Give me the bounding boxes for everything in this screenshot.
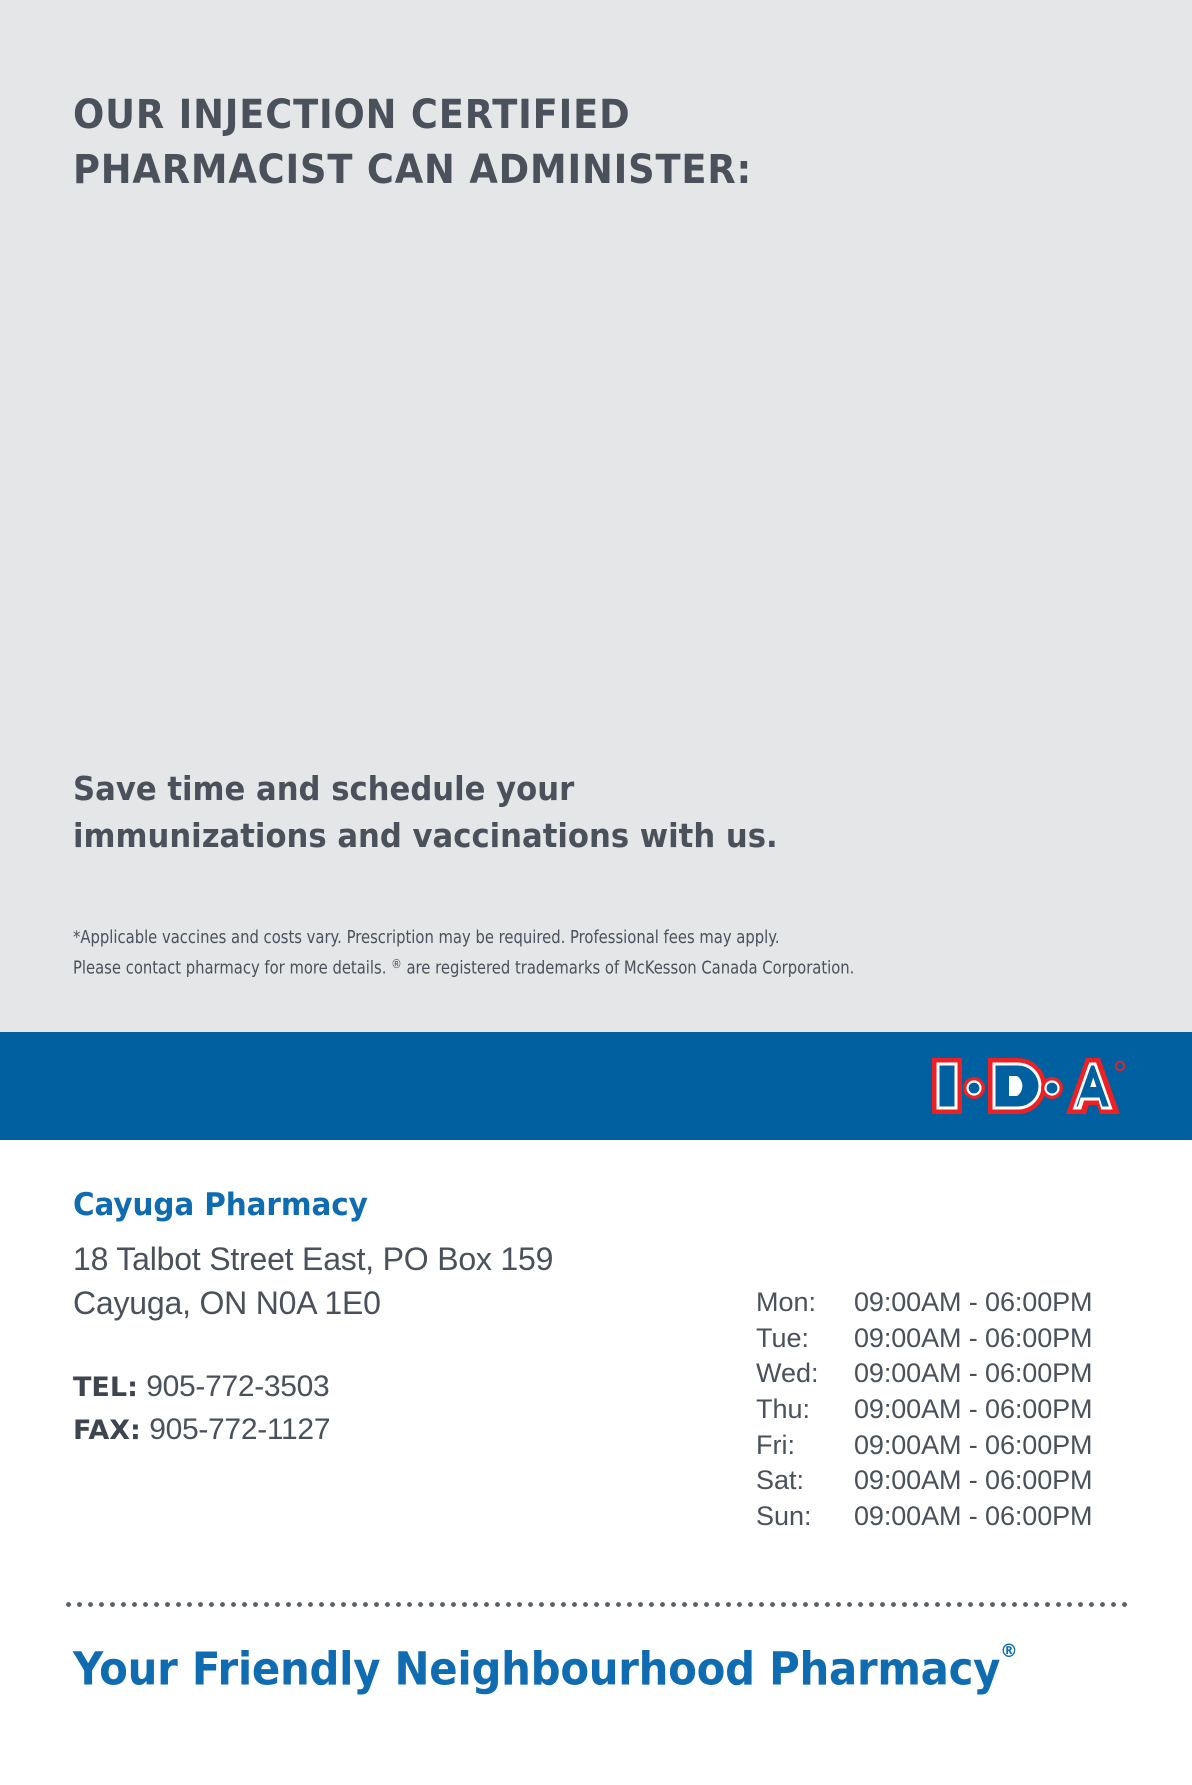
disclaimer-text: *Applicable vaccines and costs vary. Pre… — [73, 924, 960, 984]
hours-row: Mon: 09:00AM - 06:00PM — [756, 1285, 1156, 1321]
subheading: Save time and schedule your immunization… — [73, 765, 873, 859]
hours-row: Wed: 09:00AM - 06:00PM — [756, 1356, 1156, 1392]
registered-trademark-icon: ® — [391, 956, 402, 971]
hours-row: Fri: 09:00AM - 06:00PM — [756, 1428, 1156, 1464]
headline-line-2: PHARMACIST CAN ADMINISTER: — [73, 143, 901, 198]
top-grey-panel: OUR INJECTION CERTIFIED PHARMACIST CAN A… — [0, 0, 1192, 1032]
hours-time-value: 09:00AM - 06:00PM — [854, 1463, 1092, 1499]
subheading-line-1: Save time and schedule your — [73, 765, 873, 812]
disclaimer-line-2-part-a: Please contact pharmacy for more details… — [73, 959, 391, 979]
headline-line-1: OUR INJECTION CERTIFIED — [73, 88, 901, 143]
hours-time-value: 09:00AM - 06:00PM — [854, 1428, 1092, 1464]
fax-row: FAX: 905-772-1127 — [73, 1409, 330, 1452]
hours-day-label: Tue: — [756, 1321, 854, 1357]
asterisk-mark: * — [73, 928, 80, 948]
tagline: Your Friendly Neighbourhood Pharmacy® — [73, 1640, 1017, 1695]
telephone-label: TEL: — [73, 1372, 138, 1403]
hours-time-value: 09:00AM - 06:00PM — [854, 1499, 1092, 1535]
pharmacy-flyer-page: OUR INJECTION CERTIFIED PHARMACIST CAN A… — [0, 0, 1192, 1785]
hours-day-label: Sat: — [756, 1463, 854, 1499]
hours-day-label: Fri: — [756, 1428, 854, 1464]
address-line-1: 18 Talbot Street East, PO Box 159 — [73, 1238, 553, 1282]
brand-band — [0, 1032, 1192, 1140]
subheading-line-2: immunizations and vaccinations with us. — [73, 812, 873, 859]
hours-time-value: 09:00AM - 06:00PM — [854, 1321, 1092, 1357]
ida-logo-icon — [930, 1050, 1126, 1122]
tagline-text: Your Friendly Neighbourhood Pharmacy — [73, 1642, 1000, 1695]
fax-label: FAX: — [73, 1415, 141, 1446]
store-address: 18 Talbot Street East, PO Box 159 Cayuga… — [73, 1238, 553, 1325]
dotted-divider — [63, 1601, 1129, 1608]
hours-day-label: Wed: — [756, 1356, 854, 1392]
hours-row: Sun: 09:00AM - 06:00PM — [756, 1499, 1156, 1535]
store-hours-table: Mon: 09:00AM - 06:00PM Tue: 09:00AM - 06… — [756, 1285, 1156, 1534]
page-title: OUR INJECTION CERTIFIED PHARMACIST CAN A… — [73, 88, 901, 198]
hours-day-label: Thu: — [756, 1392, 854, 1428]
hours-row: Thu: 09:00AM - 06:00PM — [756, 1392, 1156, 1428]
address-line-2: Cayuga, ON N0A 1E0 — [73, 1282, 553, 1326]
store-contact-numbers: TEL: 905-772-3503 FAX: 905-772-1127 — [73, 1366, 330, 1451]
disclaimer-line-2-part-b: are registered trademarks of McKesson Ca… — [402, 959, 855, 979]
hours-time-value: 09:00AM - 06:00PM — [854, 1356, 1092, 1392]
hours-time-value: 09:00AM - 06:00PM — [854, 1392, 1092, 1428]
hours-row: Tue: 09:00AM - 06:00PM — [756, 1321, 1156, 1357]
telephone-value[interactable]: 905-772-3503 — [146, 1370, 329, 1403]
registered-trademark-icon: ® — [1000, 1640, 1017, 1662]
contact-section: Cayuga Pharmacy 18 Talbot Street East, P… — [0, 1140, 1192, 1785]
hours-time-value: 09:00AM - 06:00PM — [854, 1285, 1092, 1321]
disclaimer-line-2: Please contact pharmacy for more details… — [73, 953, 960, 984]
hours-row: Sat: 09:00AM - 06:00PM — [756, 1463, 1156, 1499]
hours-day-label: Sun: — [756, 1499, 854, 1535]
disclaimer-line-1: *Applicable vaccines and costs vary. Pre… — [73, 924, 960, 953]
disclaimer-line-1-text: Applicable vaccines and costs vary. Pres… — [80, 928, 779, 948]
telephone-row: TEL: 905-772-3503 — [73, 1366, 330, 1409]
hours-day-label: Mon: — [756, 1285, 854, 1321]
store-name: Cayuga Pharmacy — [73, 1187, 368, 1223]
fax-value: 905-772-1127 — [149, 1413, 330, 1446]
